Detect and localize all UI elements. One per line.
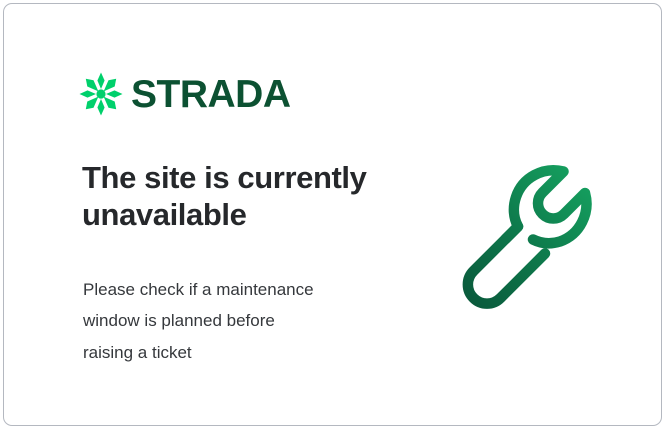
description-line: Please check if a maintenance	[83, 274, 393, 305]
error-page: STRADA The site is currently unavailable…	[0, 0, 666, 436]
brand-logo: STRADA	[79, 72, 291, 116]
strada-asterisk-icon	[79, 72, 123, 116]
brand-wordmark: STRADA	[131, 75, 291, 114]
wrench-icon	[459, 156, 619, 314]
page-title: The site is currently unavailable	[82, 159, 422, 233]
description-line: raising a ticket	[83, 337, 393, 368]
page-description: Please check if a maintenance window is …	[83, 274, 393, 368]
status-card: STRADA The site is currently unavailable…	[3, 3, 662, 426]
description-line: window is planned before	[83, 305, 393, 336]
